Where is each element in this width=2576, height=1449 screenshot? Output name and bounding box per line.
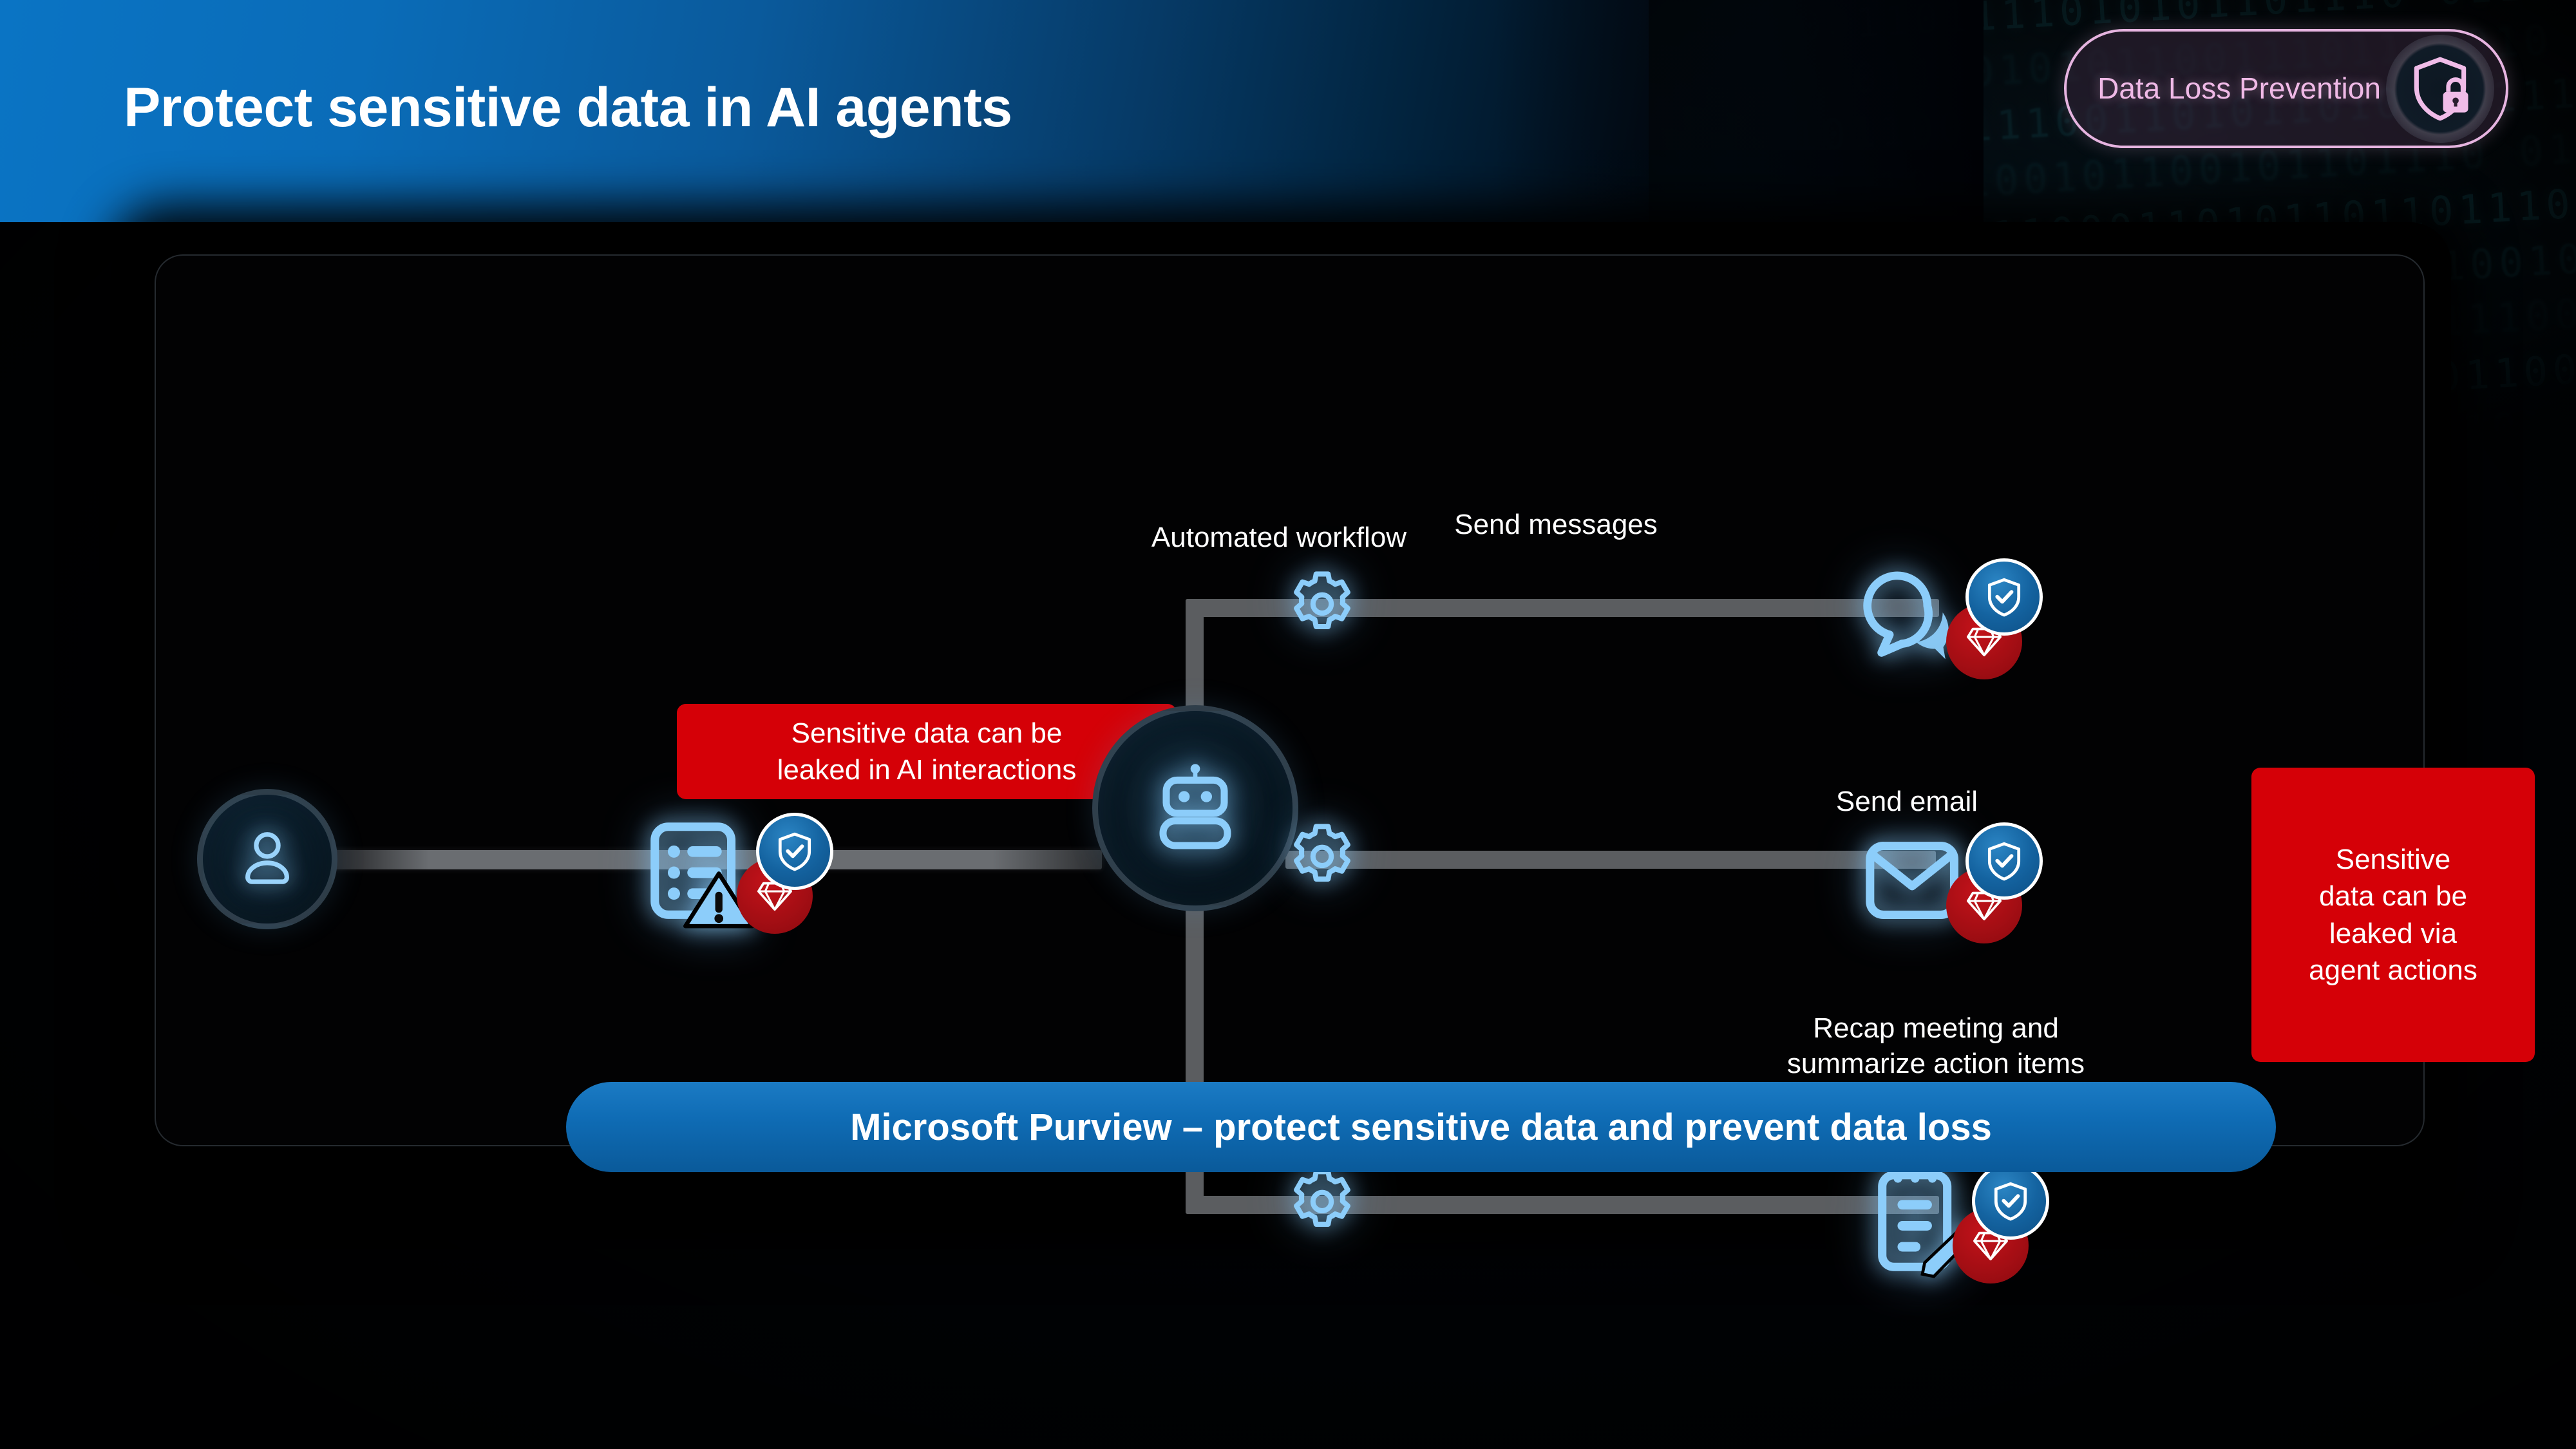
send-messages-node[interactable] xyxy=(1859,557,2058,679)
branch-top-action-label: Send messages xyxy=(1331,507,1781,543)
branch-middle-action-label: Send email xyxy=(1733,784,2081,820)
gear-icon[interactable] xyxy=(1282,567,1362,647)
gear-icon[interactable] xyxy=(1282,820,1362,900)
gear-icon[interactable] xyxy=(1282,1165,1362,1245)
shield-check-icon xyxy=(1972,1162,2049,1240)
purview-banner-label: Microsoft Purview – protect sensitive da… xyxy=(850,1106,1992,1149)
robot-icon xyxy=(1144,755,1247,862)
dlp-badge-label: Data Loss Prevention xyxy=(2067,71,2386,106)
callout-agent-actions-text: Sensitive data can be leaked via agent a… xyxy=(2309,841,2477,989)
purview-banner[interactable]: Microsoft Purview – protect sensitive da… xyxy=(566,1082,2276,1172)
branch-bottom-action-label: Recap meeting and summarize action items xyxy=(1691,1011,2181,1081)
shield-lock-icon xyxy=(2386,35,2494,143)
connector-branch-middle xyxy=(1285,851,1936,869)
agent-flow-diagram: Sensitive data can be leaked in AI inter… xyxy=(126,222,2451,1233)
shield-check-icon xyxy=(756,813,833,890)
agent-node[interactable] xyxy=(1092,705,1298,911)
shield-check-icon xyxy=(1965,558,2043,636)
slide-canvas: 0110011001101111010101101110 01100110110… xyxy=(0,0,2576,1449)
page-title: Protect sensitive data in AI agents xyxy=(124,76,1012,140)
callout-agent-actions: Sensitive data can be leaked via agent a… xyxy=(2251,768,2535,1062)
shield-check-icon xyxy=(1965,822,2043,900)
recap-meeting-node[interactable] xyxy=(1865,1155,2065,1283)
send-email-node[interactable] xyxy=(1859,821,2058,943)
data-loss-prevention-badge[interactable]: Data Loss Prevention xyxy=(2064,29,2508,148)
callout-ai-interactions-text: Sensitive data can be leaked in AI inter… xyxy=(777,715,1077,788)
person-icon xyxy=(232,823,302,896)
user-node[interactable] xyxy=(197,789,337,929)
prompt-data-node[interactable] xyxy=(641,811,854,934)
